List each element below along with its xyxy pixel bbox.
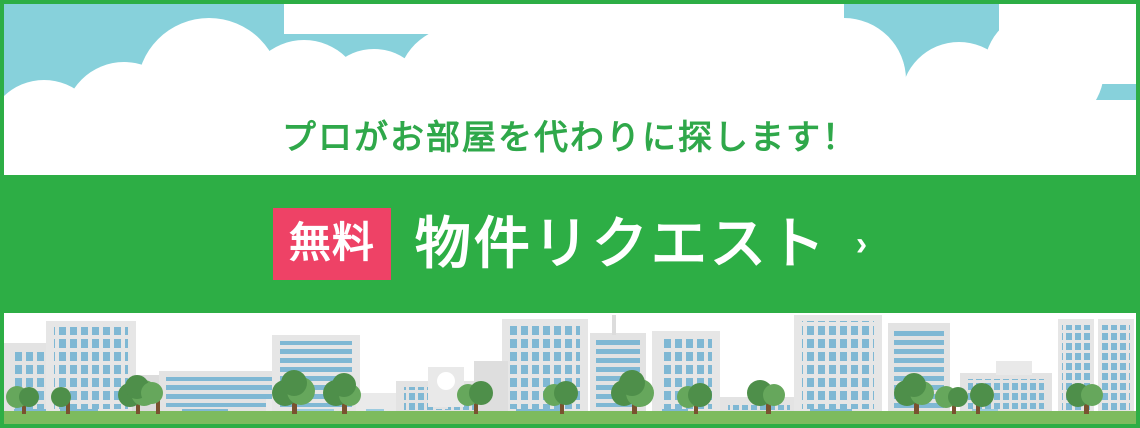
cta-content: 無料 物件リクエスト › xyxy=(273,208,867,280)
cta-band[interactable]: 無料 物件リクエスト › xyxy=(4,175,1136,313)
cta-label: 物件リクエスト xyxy=(415,216,828,272)
building xyxy=(652,331,720,424)
cityscape-illustration xyxy=(4,313,1136,424)
chevron-right-icon: › xyxy=(856,227,867,261)
page-title: プロがお部屋を代わりに探します！ xyxy=(282,121,858,155)
building xyxy=(794,315,882,424)
building xyxy=(502,319,588,424)
building xyxy=(1098,319,1134,424)
ground-strip xyxy=(4,411,1136,424)
property-request-banner[interactable]: プロがお部屋を代わりに探します！ 無料 物件リクエスト › xyxy=(0,0,1140,428)
headline-row: プロがお部屋を代わりに探します！ xyxy=(4,100,1136,175)
free-badge: 無料 xyxy=(273,208,391,280)
city-skyline-shape xyxy=(4,313,1136,424)
building xyxy=(46,321,136,424)
